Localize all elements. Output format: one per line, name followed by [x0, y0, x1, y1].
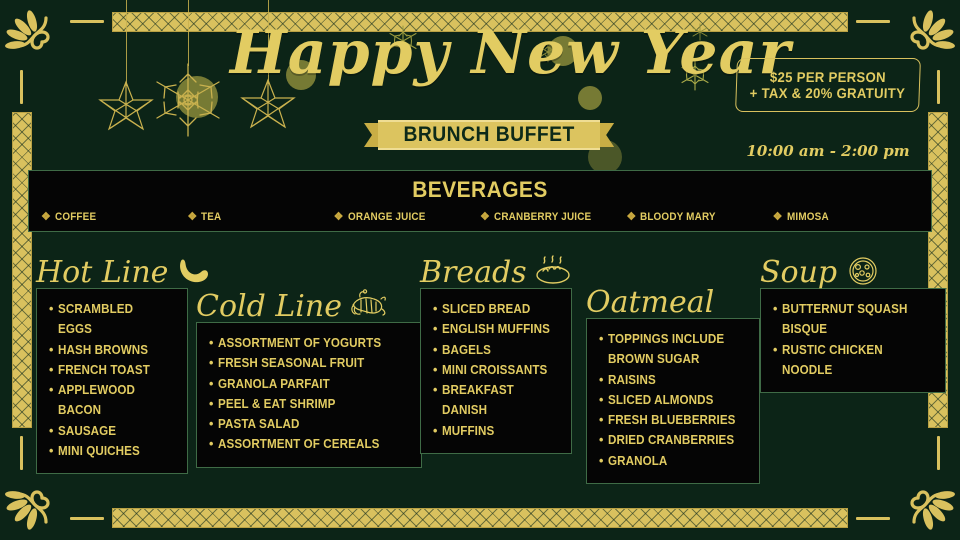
menu-item: HASH BROWNS — [49, 340, 175, 360]
beverage-item: ❖MIMOSA — [773, 210, 919, 223]
menu-item-label: SAUSAGE — [58, 421, 116, 441]
diamond-bullet-icon: ❖ — [773, 210, 781, 223]
menu-item-label: SLICED BREAD — [442, 299, 530, 319]
beverages-title: BEVERAGES — [52, 177, 909, 203]
diamond-bullet-icon: ❖ — [41, 210, 49, 223]
shrimp-icon — [348, 288, 388, 322]
beverages-list: ❖COFFEE❖TEA❖ORANGE JUICE❖CRANBERRY JUICE… — [29, 210, 931, 223]
menu-item: GRANOLA PARFAIT — [209, 374, 409, 394]
beverages-panel: BEVERAGES ❖COFFEE❖TEA❖ORANGE JUICE❖CRANB… — [28, 170, 932, 232]
menu-item: MUFFINS — [433, 421, 559, 441]
menu-item: GRANOLA — [599, 451, 747, 471]
menu-item: MINI QUICHES — [49, 441, 175, 461]
menu-item-label: MINI CROISSANTS — [442, 360, 547, 380]
menu-item-label: SCRAMBLED EGGS — [58, 299, 167, 340]
menu-item: RAISINS — [599, 370, 747, 390]
menu-item: SLICED ALMONDS — [599, 390, 747, 410]
section-soup: Soup BUTTERNUT SQUASH BISQUERUSTIC CHICK… — [760, 248, 950, 393]
menu-item: APPLEWOOD BACON — [49, 380, 175, 421]
section-items: TOPPINGS INCLUDE BROWN SUGARRAISINSSLICE… — [586, 318, 760, 484]
price-line-1: $25 PER PERSON — [770, 69, 886, 85]
menu-item: FRENCH TOAST — [49, 360, 175, 380]
service-hours: 10:00 am - 2:00 pm — [736, 142, 920, 160]
menu-item-label: GRANOLA PARFAIT — [218, 374, 330, 394]
section-header: Breads — [420, 248, 600, 288]
menu-item: ENGLISH MUFFINS — [433, 319, 559, 339]
section-oatmeal: Oatmeal TOPPINGS INCLUDE BROWN SUGARRAIS… — [586, 278, 772, 484]
menu-item: MINI CROISSANTS — [433, 360, 559, 380]
ribbon-label: BRUNCH BUFFET — [403, 123, 574, 147]
beverage-item: ❖TEA — [187, 210, 333, 223]
menu-item: BUTTERNUT SQUASH BISQUE — [773, 299, 933, 340]
section-title: Breads — [420, 258, 527, 288]
menu-item: BREAKFAST DANISH — [433, 380, 559, 421]
header-zone: Happy New Year BRUNCH BUFFET $25 PER PER… — [0, 0, 960, 170]
menu-item-label: ASSORTMENT OF CEREALS — [218, 434, 379, 454]
menu-item-label: MINI QUICHES — [58, 441, 140, 461]
beverage-item: ❖BLOODY MARY — [626, 210, 772, 223]
menu-item-label: RAISINS — [608, 370, 656, 390]
menu-item-label: GRANOLA — [608, 451, 667, 471]
section-hot-line: Hot Line SCRAMBLED EGGSHASH BROWNSFRENCH… — [36, 248, 212, 474]
menu-item: FRESH SEASONAL FRUIT — [209, 353, 409, 373]
menu-item-label: APPLEWOOD BACON — [58, 380, 167, 421]
beverage-label: MIMOSA — [787, 211, 829, 223]
page-title: Happy New Year — [230, 22, 730, 84]
price-badge: $25 PER PERSON + TAX & 20% GRATUITY — [735, 58, 921, 112]
new-year-brunch-menu-poster: Happy New Year BRUNCH BUFFET $25 PER PER… — [0, 0, 960, 540]
menu-item-label: MUFFINS — [442, 421, 494, 441]
menu-item-label: SLICED ALMONDS — [608, 390, 713, 410]
section-header: Oatmeal — [586, 278, 772, 318]
section-items: SCRAMBLED EGGSHASH BROWNSFRENCH TOASTAPP… — [36, 288, 188, 474]
beverage-item: ❖COFFEE — [41, 210, 187, 223]
beverage-label: COFFEE — [55, 211, 96, 223]
beverage-label: BLOODY MARY — [640, 211, 716, 223]
section-items: SLICED BREADENGLISH MUFFINSBAGELSMINI CR… — [420, 288, 572, 454]
section-items: BUTTERNUT SQUASH BISQUERUSTIC CHICKEN NO… — [760, 288, 946, 393]
menu-item: PEEL & EAT SHRIMP — [209, 394, 409, 414]
section-breads: Breads SLICED BREADENGLISH MUFFINSBAGELS… — [420, 248, 600, 454]
menu-item: SLICED BREAD — [433, 299, 559, 319]
menu-item-label: RUSTIC CHICKEN NOODLE — [782, 340, 922, 381]
section-header: Cold Line — [196, 282, 434, 322]
menu-item-label: BREAKFAST DANISH — [442, 380, 551, 421]
menu-item: SCRAMBLED EGGS — [49, 299, 175, 340]
border-band-bottom — [112, 508, 848, 528]
menu-item: TOPPINGS INCLUDE BROWN SUGAR — [599, 329, 747, 370]
price-line-2: + TAX & 20% GRATUITY — [750, 85, 906, 101]
menu-item: PASTA SALAD — [209, 414, 409, 434]
diamond-bullet-icon: ❖ — [334, 210, 342, 223]
beverage-item: ❖CRANBERRY JUICE — [480, 210, 626, 223]
menu-item: BAGELS — [433, 340, 559, 360]
brunch-buffet-ribbon: BRUNCH BUFFET — [378, 120, 600, 150]
diamond-bullet-icon: ❖ — [480, 210, 488, 223]
section-header: Hot Line — [36, 248, 212, 288]
menu-item-label: BUTTERNUT SQUASH BISQUE — [782, 299, 922, 340]
menu-item-label: FRESH BLUEBERRIES — [608, 410, 736, 430]
menu-item: ASSORTMENT OF CEREALS — [209, 434, 409, 454]
menu-item: DRIED CRANBERRIES — [599, 430, 747, 450]
menu-item-label: DRIED CRANBERRIES — [608, 430, 734, 450]
menu-item-label: PASTA SALAD — [218, 414, 300, 434]
decor-circle — [578, 86, 602, 110]
menu-item-label: ENGLISH MUFFINS — [442, 319, 550, 339]
menu-item-label: PEEL & EAT SHRIMP — [218, 394, 335, 414]
menu-item: FRESH BLUEBERRIES — [599, 410, 747, 430]
menu-item: SAUSAGE — [49, 421, 175, 441]
bread-loaf-icon — [533, 254, 573, 288]
soup-bowl-icon — [843, 254, 883, 288]
diamond-bullet-icon: ❖ — [626, 210, 634, 223]
menu-item-label: FRENCH TOAST — [58, 360, 150, 380]
menu-item: ASSORTMENT OF YOGURTS — [209, 333, 409, 353]
diamond-bullet-icon: ❖ — [187, 210, 195, 223]
beverage-item: ❖ORANGE JUICE — [334, 210, 480, 223]
section-title: Cold Line — [196, 292, 342, 322]
menu-item-label: FRESH SEASONAL FRUIT — [218, 353, 364, 373]
section-header: Soup — [760, 248, 950, 288]
menu-item-label: HASH BROWNS — [58, 340, 148, 360]
snowflake-ornament — [146, 0, 230, 146]
section-cold-line: Cold Line ASSORTMENT OF YOGURTSFRESH SEA… — [196, 282, 434, 468]
menu-item-label: TOPPINGS INCLUDE BROWN SUGAR — [608, 329, 737, 370]
section-items: ASSORTMENT OF YOGURTSFRESH SEASONAL FRUI… — [196, 322, 422, 468]
corner-flourish-bottom-right — [854, 434, 958, 538]
menu-item-label: ASSORTMENT OF YOGURTS — [218, 333, 381, 353]
beverage-label: ORANGE JUICE — [348, 211, 426, 223]
beverage-label: TEA — [201, 211, 221, 223]
section-title: Soup — [760, 258, 837, 288]
section-title: Oatmeal — [586, 288, 714, 318]
beverage-label: CRANBERRY JUICE — [494, 211, 591, 223]
section-title: Hot Line — [36, 258, 168, 288]
menu-item: RUSTIC CHICKEN NOODLE — [773, 340, 933, 381]
menu-item-label: BAGELS — [442, 340, 491, 360]
